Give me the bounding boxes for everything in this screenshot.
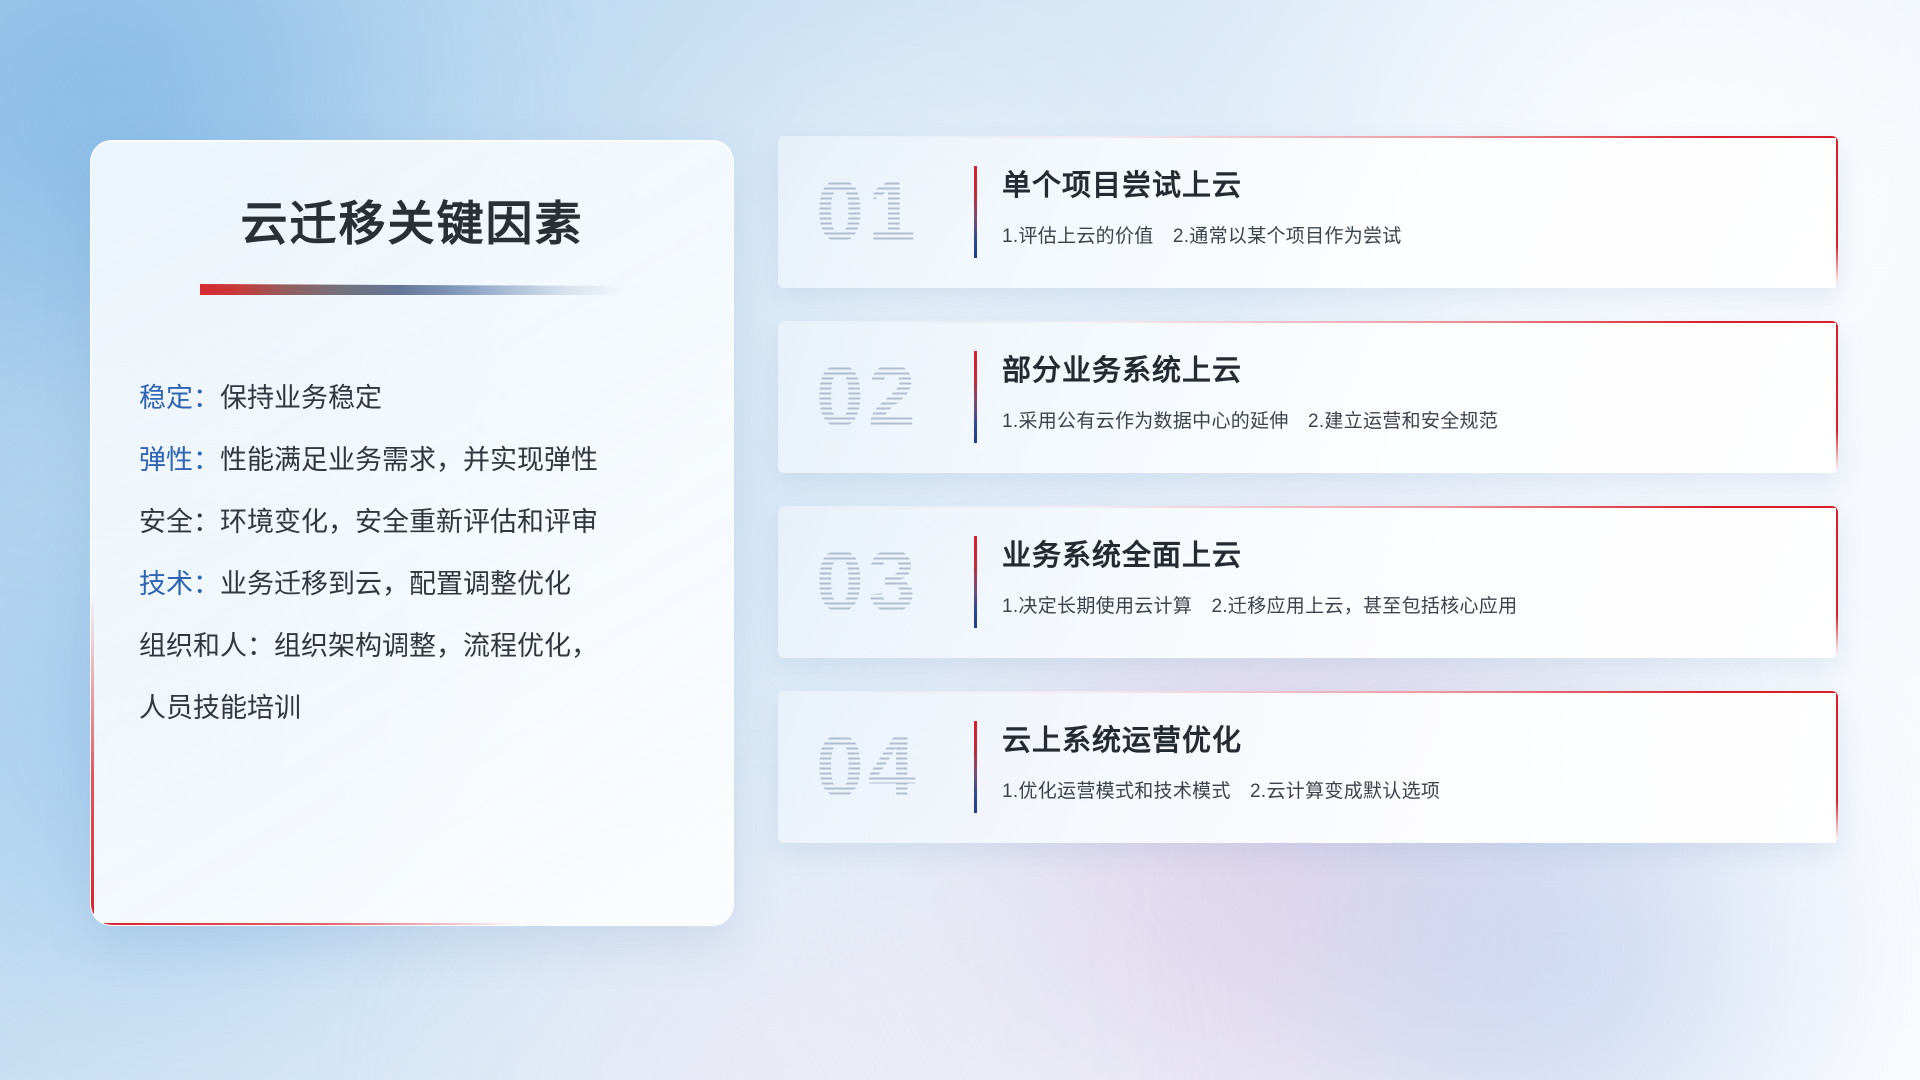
page-title: 云迁移关键因素 <box>91 185 733 254</box>
factor-row: 组织和人：组织架构调整，流程优化， <box>139 615 733 677</box>
factor-text: 业务迁移到云，配置调整优化 <box>220 569 571 599</box>
step-card-03[interactable]: 03业务系统全面上云1.决定长期使用云计算 2.迁移应用上云，甚至包括核心应用 <box>778 506 1838 658</box>
factor-text: 人员技能培训 <box>139 693 301 723</box>
factor-text: 保持业务稳定 <box>220 383 382 413</box>
step-card-02[interactable]: 02部分业务系统上云1.采用公有云作为数据中心的延伸 2.建立运营和安全规范 <box>778 321 1838 473</box>
step-subtitle: 1.评估上云的价值 2.通常以某个项目作为尝试 <box>1002 221 1798 248</box>
step-subtitle: 1.采用公有云作为数据中心的延伸 2.建立运营和安全规范 <box>1002 406 1798 433</box>
factor-label: 技术： <box>139 569 220 599</box>
step-title: 业务系统全面上云 <box>1002 532 1798 574</box>
factor-label: 安全： <box>139 507 220 537</box>
step-subtitle: 1.优化运营模式和技术模式 2.云计算变成默认选项 <box>1002 776 1798 803</box>
step-card-01[interactable]: 01单个项目尝试上云1.评估上云的价值 2.通常以某个项目作为尝试 <box>778 136 1838 288</box>
step-card-04[interactable]: 04云上系统运营优化1.优化运营模式和技术模式 2.云计算变成默认选项 <box>778 691 1838 843</box>
step-subtitle: 1.决定长期使用云计算 2.迁移应用上云，甚至包括核心应用 <box>1002 591 1798 618</box>
step-number: 02 <box>816 348 920 447</box>
step-text-block: 部分业务系统上云1.采用公有云作为数据中心的延伸 2.建立运营和安全规范 <box>1002 347 1798 433</box>
factor-row: 人员技能培训 <box>139 677 733 739</box>
factor-row: 技术：业务迁移到云，配置调整优化 <box>139 553 733 615</box>
step-number: 01 <box>816 163 920 262</box>
title-underline-accent <box>200 284 625 295</box>
step-accent-bar <box>974 721 977 813</box>
factor-list: 稳定：保持业务稳定弹性：性能满足业务需求，并实现弹性安全：环境变化，安全重新评估… <box>139 367 733 739</box>
step-title: 部分业务系统上云 <box>1002 347 1798 389</box>
factor-label: 弹性： <box>139 445 220 475</box>
factor-text: 组织架构调整，流程优化， <box>274 631 598 661</box>
step-accent-bar <box>974 166 977 258</box>
factor-text: 环境变化，安全重新评估和评审 <box>220 507 598 537</box>
key-factors-panel: 云迁移关键因素 稳定：保持业务稳定弹性：性能满足业务需求，并实现弹性安全：环境变… <box>90 140 734 926</box>
migration-steps-list: 01单个项目尝试上云1.评估上云的价值 2.通常以某个项目作为尝试02部分业务系… <box>778 136 1838 876</box>
factor-label: 组织和人： <box>139 631 274 661</box>
step-text-block: 业务系统全面上云1.决定长期使用云计算 2.迁移应用上云，甚至包括核心应用 <box>1002 532 1798 618</box>
step-title: 单个项目尝试上云 <box>1002 162 1798 204</box>
step-accent-bar <box>974 351 977 443</box>
step-number: 04 <box>816 718 920 817</box>
step-title: 云上系统运营优化 <box>1002 717 1798 759</box>
step-text-block: 云上系统运营优化1.优化运营模式和技术模式 2.云计算变成默认选项 <box>1002 717 1798 803</box>
factor-row: 弹性：性能满足业务需求，并实现弹性 <box>139 429 733 491</box>
step-accent-bar <box>974 536 977 628</box>
factor-row: 稳定：保持业务稳定 <box>139 367 733 429</box>
factor-text: 性能满足业务需求，并实现弹性 <box>220 445 598 475</box>
factor-row: 安全：环境变化，安全重新评估和评审 <box>139 491 733 553</box>
step-number: 03 <box>816 533 920 632</box>
factor-label: 稳定： <box>139 383 220 413</box>
step-text-block: 单个项目尝试上云1.评估上云的价值 2.通常以某个项目作为尝试 <box>1002 162 1798 248</box>
